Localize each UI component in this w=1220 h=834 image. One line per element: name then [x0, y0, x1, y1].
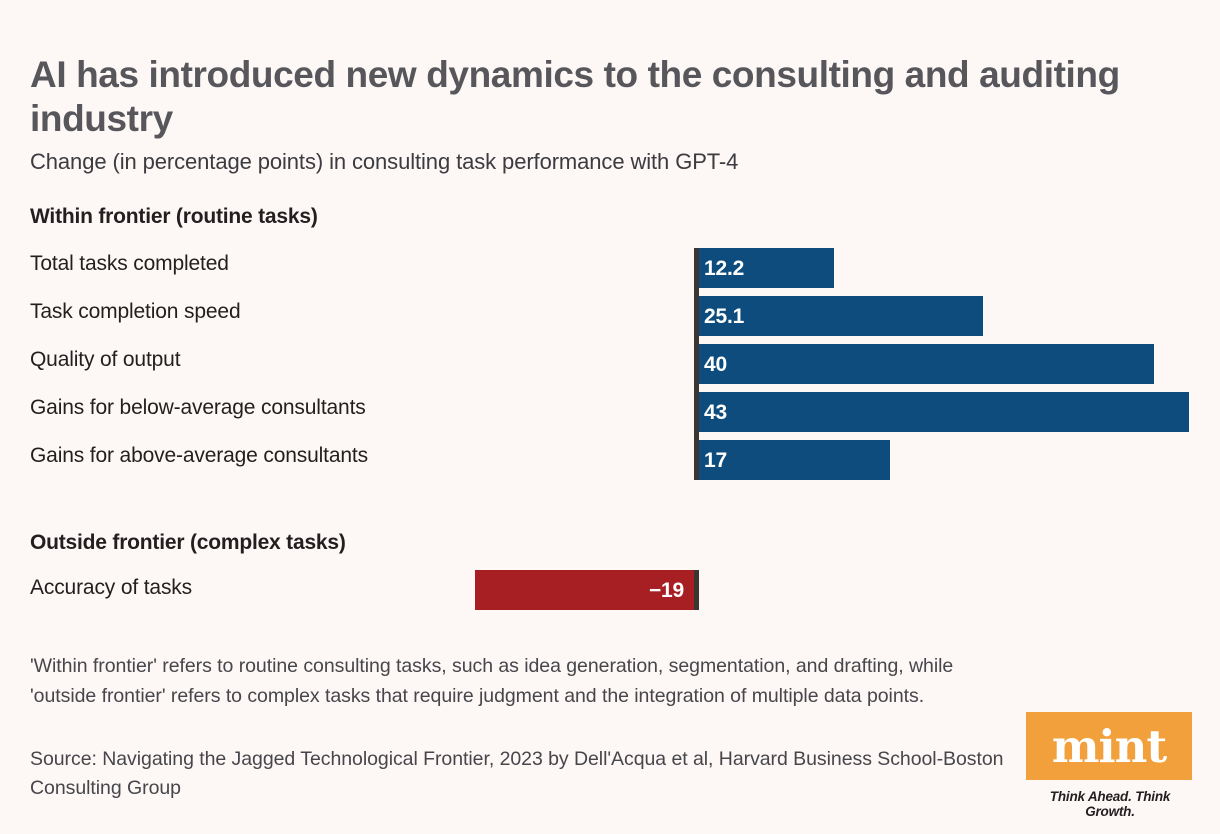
bar-label: Accuracy of tasks [30, 576, 192, 600]
bar-positive: 12.2 [694, 248, 834, 288]
bar-positive: 25.1 [694, 296, 983, 336]
mint-logo-box: mint [1026, 712, 1192, 780]
bar-value-label: 12.2 [704, 258, 744, 279]
bar-value-label: 43 [704, 402, 727, 423]
page-title: AI has introduced new dynamics to the co… [30, 53, 1120, 141]
zero-axis-line [694, 248, 699, 480]
bar-negative: −19 [475, 570, 694, 610]
mint-logo: mint Think Ahead. Think Growth. [1026, 712, 1194, 819]
bar-positive: 43 [694, 392, 1189, 432]
section-heading-outside-frontier: Outside frontier (complex tasks) [30, 531, 346, 555]
bar-positive: 17 [694, 440, 890, 480]
infographic-page: AI has introduced new dynamics to the co… [0, 0, 1220, 834]
mint-logo-tagline: Think Ahead. Think Growth. [1026, 789, 1194, 819]
bar-label: Gains for below-average consultants [30, 396, 366, 420]
page-subtitle: Change (in percentage points) in consult… [30, 149, 1130, 175]
zero-axis-line [694, 570, 699, 610]
bar-value-label: 40 [704, 354, 727, 375]
footnote-text: 'Within frontier' refers to routine cons… [30, 652, 1015, 711]
bar-value-label: −19 [649, 580, 684, 601]
bar-positive: 40 [694, 344, 1154, 384]
bar-label: Quality of output [30, 348, 180, 372]
bar-label: Total tasks completed [30, 252, 229, 276]
bar-value-label: 25.1 [704, 306, 744, 327]
bar-label: Gains for above-average consultants [30, 444, 368, 468]
bar-label: Task completion speed [30, 300, 240, 324]
section-heading-within-frontier: Within frontier (routine tasks) [30, 205, 318, 229]
bar-value-label: 17 [704, 450, 727, 471]
mint-logo-wordmark: mint [1052, 724, 1166, 769]
source-text: Source: Navigating the Jagged Technologi… [30, 745, 1015, 804]
